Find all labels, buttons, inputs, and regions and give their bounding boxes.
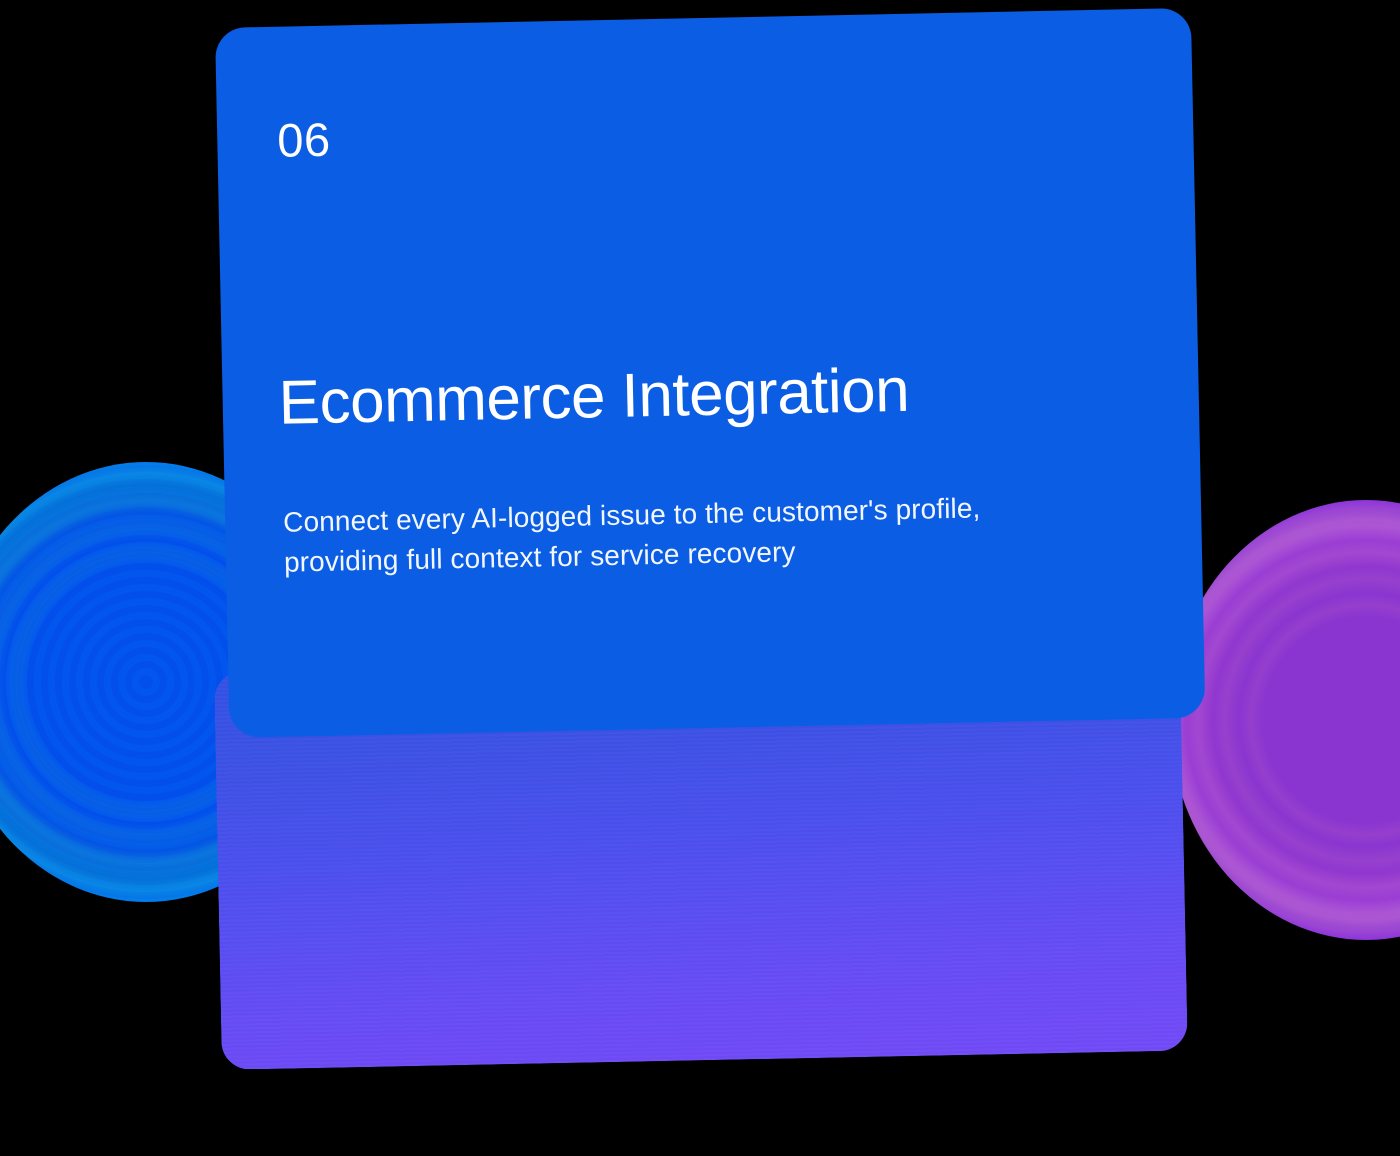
feature-card-content: 06 Ecommerce Integration Connect every A… <box>215 8 1205 738</box>
right-magenta-glow-decoration <box>1170 500 1400 940</box>
card-description: Connect every AI-logged issue to the cus… <box>283 486 1084 582</box>
right-glow-rings-decoration <box>1170 500 1400 940</box>
page-title: Ecommerce Integration <box>278 358 910 438</box>
feature-card[interactable]: 06 Ecommerce Integration Connect every A… <box>215 8 1205 738</box>
slide-canvas: 06 Ecommerce Integration Connect every A… <box>0 0 1400 1156</box>
step-number: 06 <box>277 99 1138 164</box>
